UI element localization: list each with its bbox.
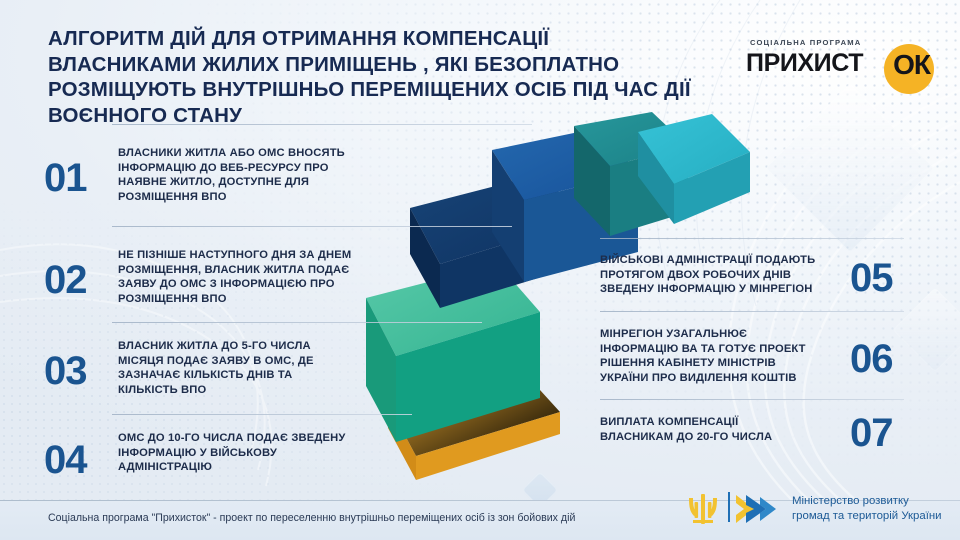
ministry-line-2: громад та територій України — [792, 509, 942, 524]
divider-left-3 — [112, 322, 482, 323]
step-02-line-4: РОЗМІЩЕННЯ ВПО — [118, 292, 351, 307]
step-text-02: НЕ ПІЗНІШЕ НАСТУПНОГО ДНЯ ЗА ДНЕМ РОЗМІЩ… — [118, 248, 351, 306]
step-05-line-3: ЗВЕДЕНУ ІНФОРМАЦІЮ У МІНРЕГІОН — [600, 282, 815, 297]
step-text-07: ВИПЛАТА КОМПЕНСАЦІЇ ВЛАСНИКАМ ДО 20-ГО Ч… — [600, 415, 772, 444]
step-02-line-1: НЕ ПІЗНІШЕ НАСТУПНОГО ДНЯ ЗА ДНЕМ — [118, 248, 351, 263]
step-text-03: ВЛАСНИК ЖИТЛА ДО 5-ГО ЧИСЛА МІСЯЦЯ ПОДАЄ… — [118, 339, 314, 397]
divider-right-1 — [600, 238, 904, 239]
step-number-07: 07 — [850, 413, 893, 453]
step-03-line-4: КІЛЬКІСТЬ ВПО — [118, 383, 314, 398]
step-number-01: 01 — [44, 158, 87, 198]
divider-right-3 — [600, 399, 904, 400]
footer-caption: Соціальна програма "Прихисток" - проект … — [48, 512, 575, 524]
divider-right-2 — [600, 311, 904, 312]
page-title-line-1: АЛГОРИТМ ДІЙ ДЛЯ ОТРИМАННЯ КОМПЕНСАЦІЇ — [48, 26, 708, 52]
step-text-01: ВЛАСНИКИ ЖИТЛА АБО ОМС ВНОСЯТЬ ІНФОРМАЦІ… — [118, 146, 345, 204]
step-number-03: 03 — [44, 351, 87, 391]
step-text-05: ВІЙСЬКОВІ АДМІНІСТРАЦІЇ ПОДАЮТЬ ПРОТЯГОМ… — [600, 253, 815, 297]
divider-left-4 — [112, 414, 412, 415]
step-06-line-4: УКРАЇНИ ПРО ВИДІЛЕННЯ КОШТІВ — [600, 371, 806, 386]
step-01-line-4: РОЗМІЩЕННЯ ВПО — [118, 190, 345, 205]
step-04-line-2: ІНФОРМАЦІЮ У ВІЙСЬКОВУ — [118, 446, 345, 461]
ministry-line-1: Міністерство розвитку — [792, 494, 942, 509]
ministry-logo-divider — [728, 492, 730, 522]
step-05-line-1: ВІЙСЬКОВІ АДМІНІСТРАЦІЇ ПОДАЮТЬ — [600, 253, 815, 268]
step-02-line-3: ЗАЯВУ ДО ОМС З ІНФОРМАЦІЄЮ ПРО — [118, 277, 351, 292]
brand-ok-mark: ОК — [893, 49, 930, 81]
step-01-line-2: ІНФОРМАЦІЮ ДО ВЕБ-РЕСУРСУ ПРО — [118, 161, 345, 176]
page-title-line-3: РОЗМІЩУЮТЬ ВНУТРІШНЬО ПЕРЕМІЩЕНИХ ОСІБ П… — [48, 77, 708, 103]
step-number-02: 02 — [44, 260, 87, 300]
step-03-line-1: ВЛАСНИК ЖИТЛА ДО 5-ГО ЧИСЛА — [118, 339, 314, 354]
step-01-line-1: ВЛАСНИКИ ЖИТЛА АБО ОМС ВНОСЯТЬ — [118, 146, 345, 161]
trident-icon — [684, 490, 722, 528]
step-number-04: 04 — [44, 440, 87, 480]
step-06-line-2: ІНФОРМАЦІЮ ВА ТА ГОТУЄ ПРОЕКТ — [600, 342, 806, 357]
step-07-line-2: ВЛАСНИКАМ ДО 20-ГО ЧИСЛА — [600, 430, 772, 445]
brand-logo-prykhystok: СОЦІАЛЬНА ПРОГРАМА ПРИХИСТ ОК — [742, 38, 934, 94]
step-05-line-2: ПРОТЯГОМ ДВОХ РОБОЧИХ ДНІВ — [600, 268, 815, 283]
step-06-line-1: МІНРЕГІОН УЗАГАЛЬНЮЄ — [600, 327, 806, 342]
divider-left-1 — [112, 124, 532, 125]
step-number-06: 06 — [850, 339, 893, 379]
step-04-line-1: ОМС ДО 10-ГО ЧИСЛА ПОДАЄ ЗВЕДЕНУ — [118, 431, 345, 446]
page-title-line-2: ВЛАСНИКАМИ ЖИЛИХ ПРИМІЩЕНЬ , ЯКІ БЕЗОПЛА… — [48, 52, 708, 78]
step-06-line-3: РІШЕННЯ КАБІНЕТУ МІНІСТРІВ — [600, 356, 806, 371]
brand-kicker: СОЦІАЛЬНА ПРОГРАМА — [750, 38, 861, 47]
step-03-line-2: МІСЯЦЯ ПОДАЄ ЗАЯВУ В ОМС, ДЕ — [118, 354, 314, 369]
infographic-canvas: АЛГОРИТМ ДІЙ ДЛЯ ОТРИМАННЯ КОМПЕНСАЦІЇ В… — [0, 0, 960, 540]
step-04-line-3: АДМІНІСТРАЦІЮ — [118, 460, 345, 475]
divider-left-2 — [112, 226, 512, 227]
step-text-06: МІНРЕГІОН УЗАГАЛЬНЮЄ ІНФОРМАЦІЮ ВА ТА ГО… — [600, 327, 806, 385]
step-text-04: ОМС ДО 10-ГО ЧИСЛА ПОДАЄ ЗВЕДЕНУ ІНФОРМА… — [118, 431, 345, 475]
step-number-05: 05 — [850, 258, 893, 298]
ministry-logo-text: Міністерство розвитку громад та територі… — [792, 494, 942, 523]
brand-wordmark: ПРИХИСТ — [746, 49, 863, 78]
step-03-line-3: ЗАЗНАЧАЄ КІЛЬКІСТЬ ДНІВ ТА — [118, 368, 314, 383]
ministry-logo: Міністерство розвитку громад та територі… — [684, 486, 946, 530]
step-01-line-3: НАЯВНЕ ЖИТЛО, ДОСТУПНЕ ДЛЯ — [118, 175, 345, 190]
step-02-line-2: РОЗМІЩЕННЯ, ВЛАСНИК ЖИТЛА ПОДАЄ — [118, 263, 351, 278]
chevron-arrow-icon — [736, 493, 782, 525]
step-07-line-1: ВИПЛАТА КОМПЕНСАЦІЇ — [600, 415, 772, 430]
